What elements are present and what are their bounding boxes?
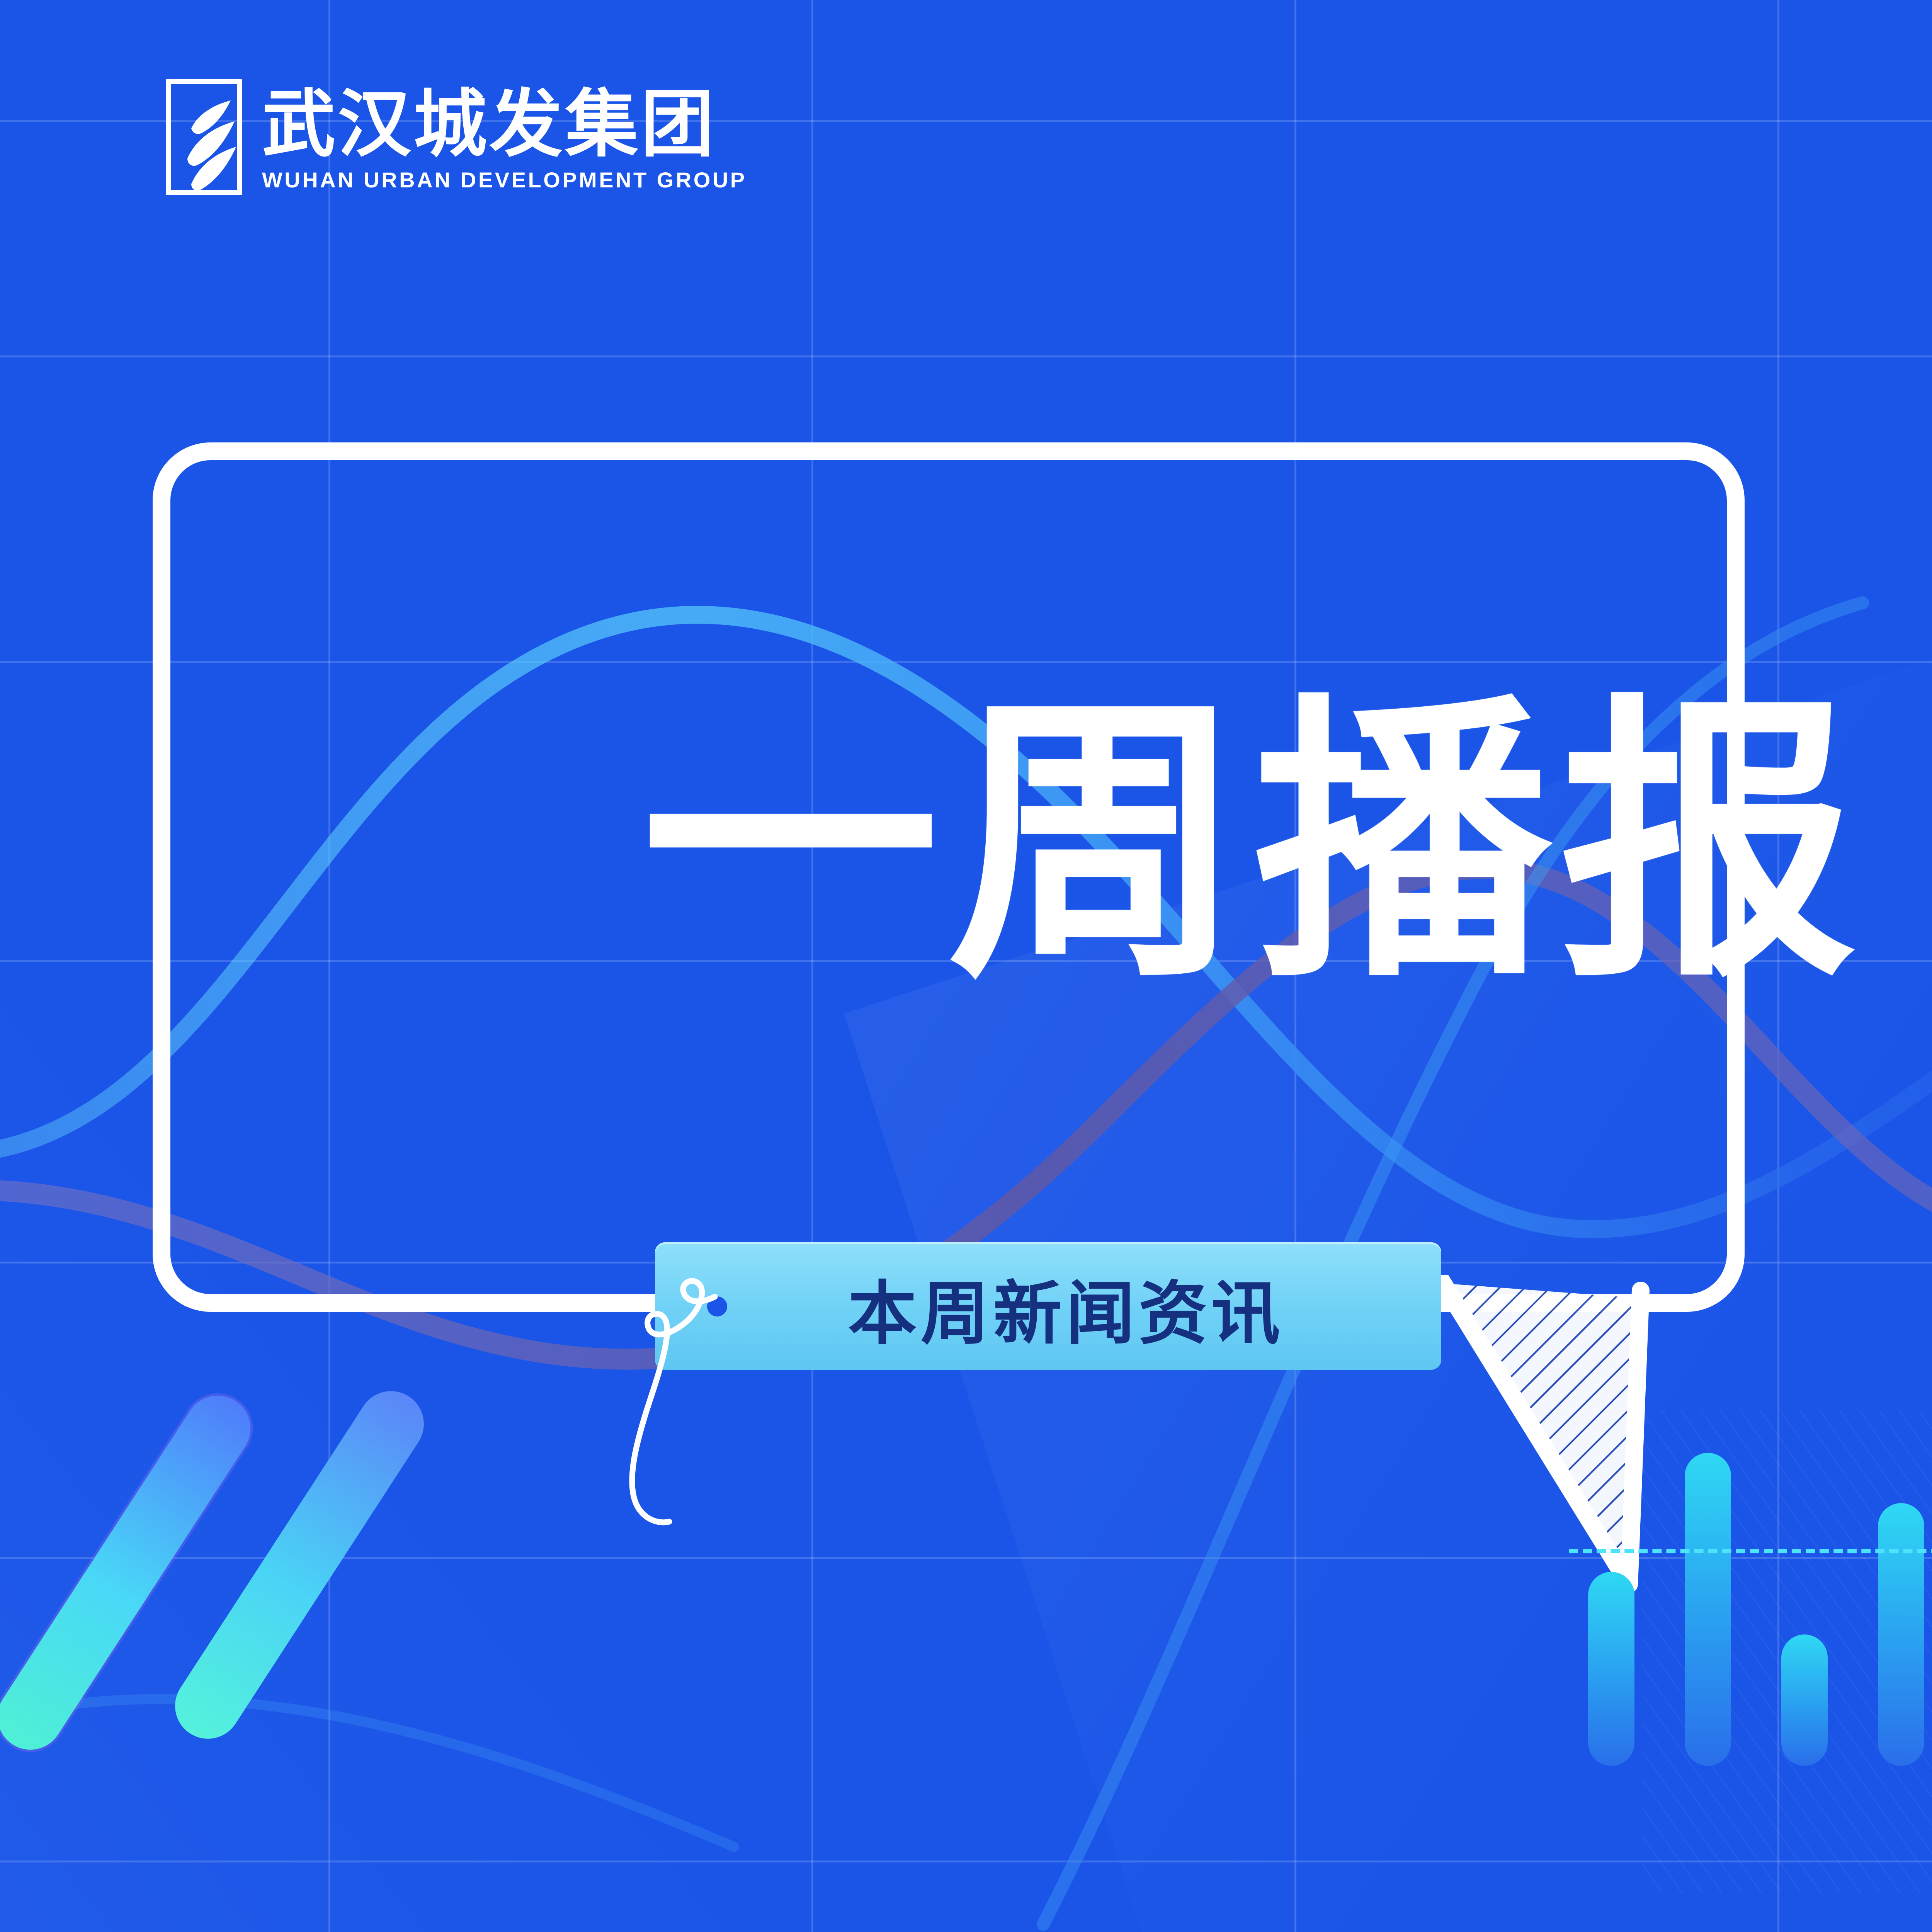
- chart-threshold-line: [1569, 1549, 1932, 1553]
- ribbon-icon: [169, 83, 250, 202]
- grid-line-horizontal: [0, 355, 1932, 357]
- string-path: [632, 1281, 715, 1522]
- chart-bar: [1685, 1453, 1731, 1766]
- chart-bar: [1588, 1572, 1634, 1766]
- logo-mark-icon: [166, 79, 242, 195]
- wave-faint-lower: [0, 1699, 734, 1847]
- logo-english-name: WUHAN URBAN DEVELOPMENT GROUP: [262, 167, 747, 192]
- page-title: 一周播报: [641, 694, 1866, 991]
- status-badge[interactable]: 本周新闻资讯: [655, 1242, 1441, 1370]
- logo-wordmark: 武汉城发集团 WUHAN URBAN DEVELOPMENT GROUP: [262, 79, 747, 192]
- badge-string: [533, 1275, 750, 1623]
- logo-chinese-name: 武汉城发集团: [262, 88, 747, 161]
- bar-chart: [1588, 1453, 1932, 1766]
- chart-bar: [1878, 1503, 1924, 1766]
- brand-logo: 武汉城发集团 WUHAN URBAN DEVELOPMENT GROUP: [166, 79, 747, 195]
- poster-canvas: 武汉城发集团 WUHAN URBAN DEVELOPMENT GROUP 一周播…: [0, 0, 1932, 1932]
- chart-bar: [1781, 1634, 1828, 1766]
- badge-label: 本周新闻资讯: [848, 1258, 1284, 1357]
